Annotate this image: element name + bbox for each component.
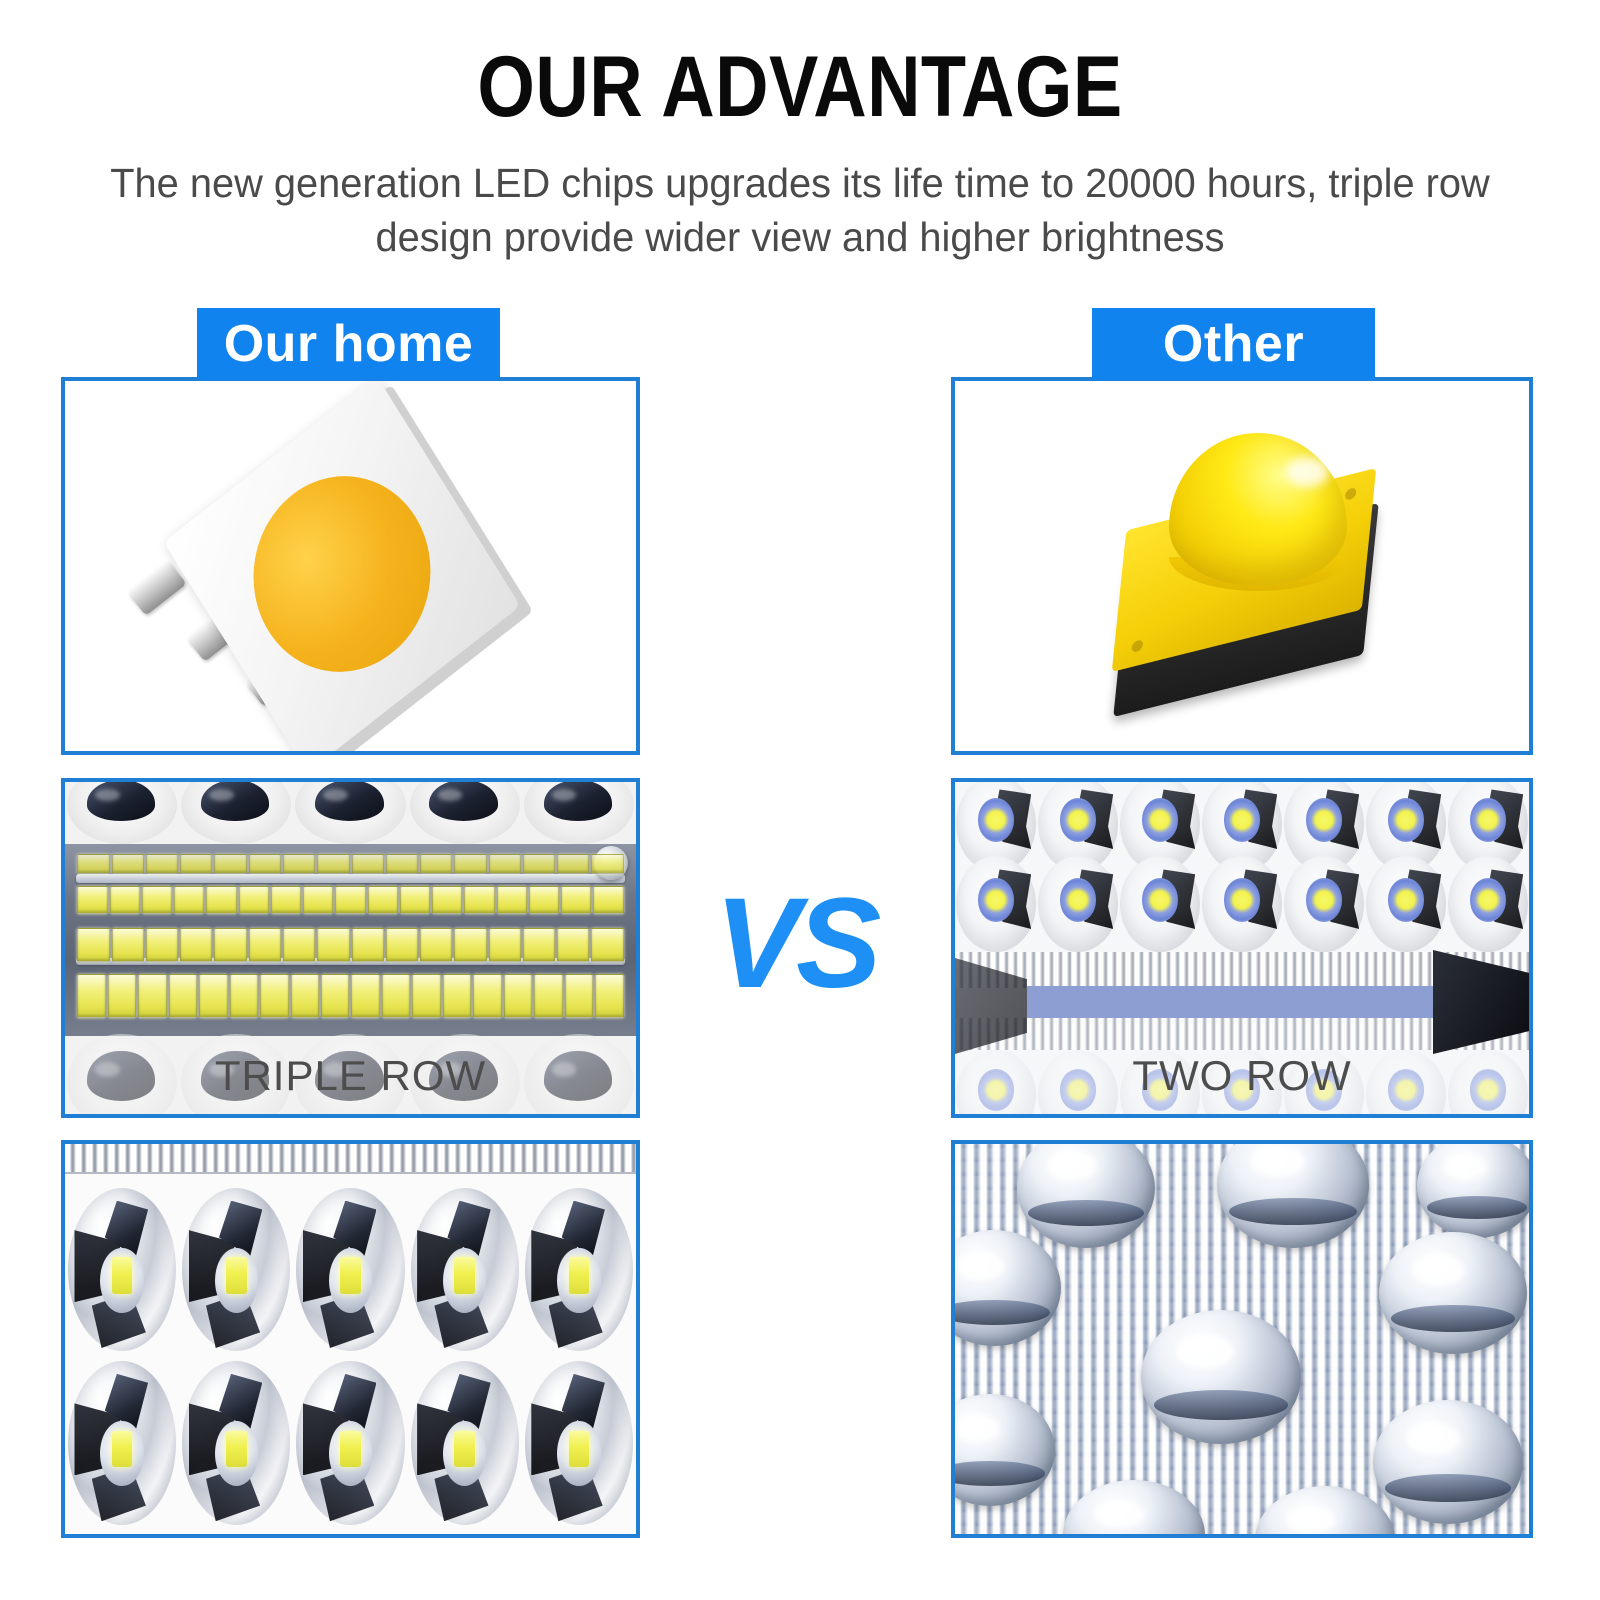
solder-trace <box>76 874 624 883</box>
panel-other-chip <box>951 377 1533 755</box>
reflector-cup <box>1120 856 1200 952</box>
reflector-cup <box>296 1361 404 1525</box>
banner-our-home: Our home <box>197 308 500 380</box>
reflector-cup <box>956 856 1036 952</box>
reflector-cup <box>524 778 634 844</box>
reflector-cup <box>67 778 177 844</box>
dome-highlight <box>1285 457 1329 487</box>
smd-terminal-icon <box>127 560 186 616</box>
blue-strip <box>1027 986 1447 1018</box>
reflector-cup <box>411 1188 519 1352</box>
header: OUR ADVANTAGE The new generation LED chi… <box>0 0 1600 264</box>
yellow-dome-lens <box>1169 433 1347 585</box>
led-row-1 <box>76 854 624 874</box>
caption-triple-row: TRIPLE ROW <box>65 1052 636 1100</box>
dome-lens <box>1141 1310 1301 1444</box>
dome-lens <box>1373 1400 1523 1524</box>
reflector-row <box>65 1361 636 1525</box>
reflector-cup <box>1448 856 1528 952</box>
other-cup-row-2 <box>955 856 1529 952</box>
reflector-cup <box>1366 856 1446 952</box>
reflector-cup <box>68 1188 176 1352</box>
smd-led-chip-illustration <box>65 381 636 751</box>
panel-other-board: TWO ROW <box>951 778 1533 1118</box>
banner-our-home-label: Our home <box>224 314 474 374</box>
page-subtitle: The new generation LED chips upgrades it… <box>77 156 1522 264</box>
reflector-cup <box>181 778 291 844</box>
panel-ours-optics <box>61 1140 640 1538</box>
caption-two-row: TWO ROW <box>955 1052 1529 1100</box>
led-row-3 <box>76 928 624 962</box>
reflector-grid <box>65 1178 636 1534</box>
reflector-cup <box>295 778 405 844</box>
reflector-cup <box>68 1361 176 1525</box>
phosphor-dot <box>219 437 465 710</box>
reflector-cup <box>1038 856 1118 952</box>
reflector-cup <box>182 1188 290 1352</box>
housing-bezel <box>65 1144 636 1174</box>
page-title: OUR ADVANTAGE <box>112 44 1488 130</box>
banner-other-label: Other <box>1163 314 1304 374</box>
dome-lens <box>1417 1140 1533 1238</box>
infographic-page: OUR ADVANTAGE The new generation LED chi… <box>0 0 1600 1600</box>
reflector-cup <box>296 1188 404 1352</box>
reflector-cup <box>410 778 520 844</box>
reflector-cup <box>525 1188 633 1352</box>
led-row-2 <box>76 886 624 914</box>
banner-other: Other <box>1092 308 1375 380</box>
panel-ours-board: TRIPLE ROW <box>61 778 640 1118</box>
panel-other-optics <box>951 1140 1533 1538</box>
panel-ours-chip <box>61 377 640 755</box>
dome-led-chip-illustration <box>955 381 1529 751</box>
reflector-cup-strip-top <box>65 778 636 844</box>
reflector-cup <box>411 1361 519 1525</box>
reflector-cup <box>1284 856 1364 952</box>
led-row-4 <box>76 974 624 1018</box>
reflector-cup <box>182 1361 290 1525</box>
smd-chip-face <box>164 377 521 755</box>
reflector-cup <box>525 1361 633 1525</box>
vs-label: VS <box>665 880 927 1008</box>
dome-lens <box>1379 1232 1527 1354</box>
reflector-cup <box>1202 856 1282 952</box>
reflector-row <box>65 1188 636 1352</box>
